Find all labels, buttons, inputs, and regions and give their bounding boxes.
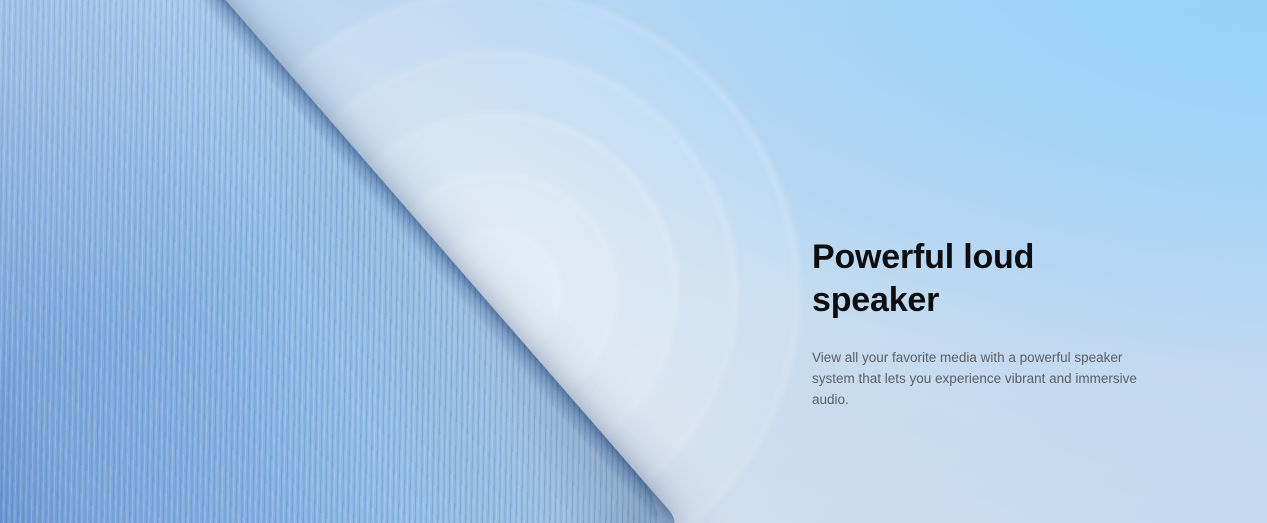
powerful-loud-speaker-banner: Powerful loud speaker View all your favo…: [0, 0, 1267, 523]
sound-wave-ring-1: [435, 231, 559, 355]
phone-shading: [0, 0, 683, 523]
sound-wave-disc-2: [379, 175, 615, 411]
sound-wave-ring-2: [379, 175, 615, 411]
product-image-stage: [0, 0, 770, 510]
phone-texture-stripes: [0, 0, 683, 523]
sound-wave-disc-1: [435, 231, 559, 355]
phone-sheen-highlight: [0, 0, 683, 523]
sound-wave-ring-4: [259, 55, 735, 523]
feature-description: View all your favorite media with a powe…: [812, 347, 1150, 410]
feature-heading: Powerful loud speaker: [812, 236, 1162, 322]
phone-contact-shadow: [0, 7, 349, 413]
phone-edge-highlight: [0, 137, 280, 523]
sound-wave-ring-3: [319, 115, 675, 471]
sound-wave-disc-3: [319, 115, 675, 471]
phone-rim-bottom: [240, 503, 682, 523]
phone-edge-shadow: [25, 0, 683, 523]
sound-wave-disc-4: [259, 55, 735, 523]
smartphone-back-cover: [0, 0, 683, 523]
sound-wave-disc-5: [197, 0, 797, 523]
sound-wave-ring-5: [197, 0, 797, 523]
feature-copy-block: Powerful loud speaker View all your favo…: [812, 236, 1162, 410]
phone-rim-top: [0, 0, 54, 170]
